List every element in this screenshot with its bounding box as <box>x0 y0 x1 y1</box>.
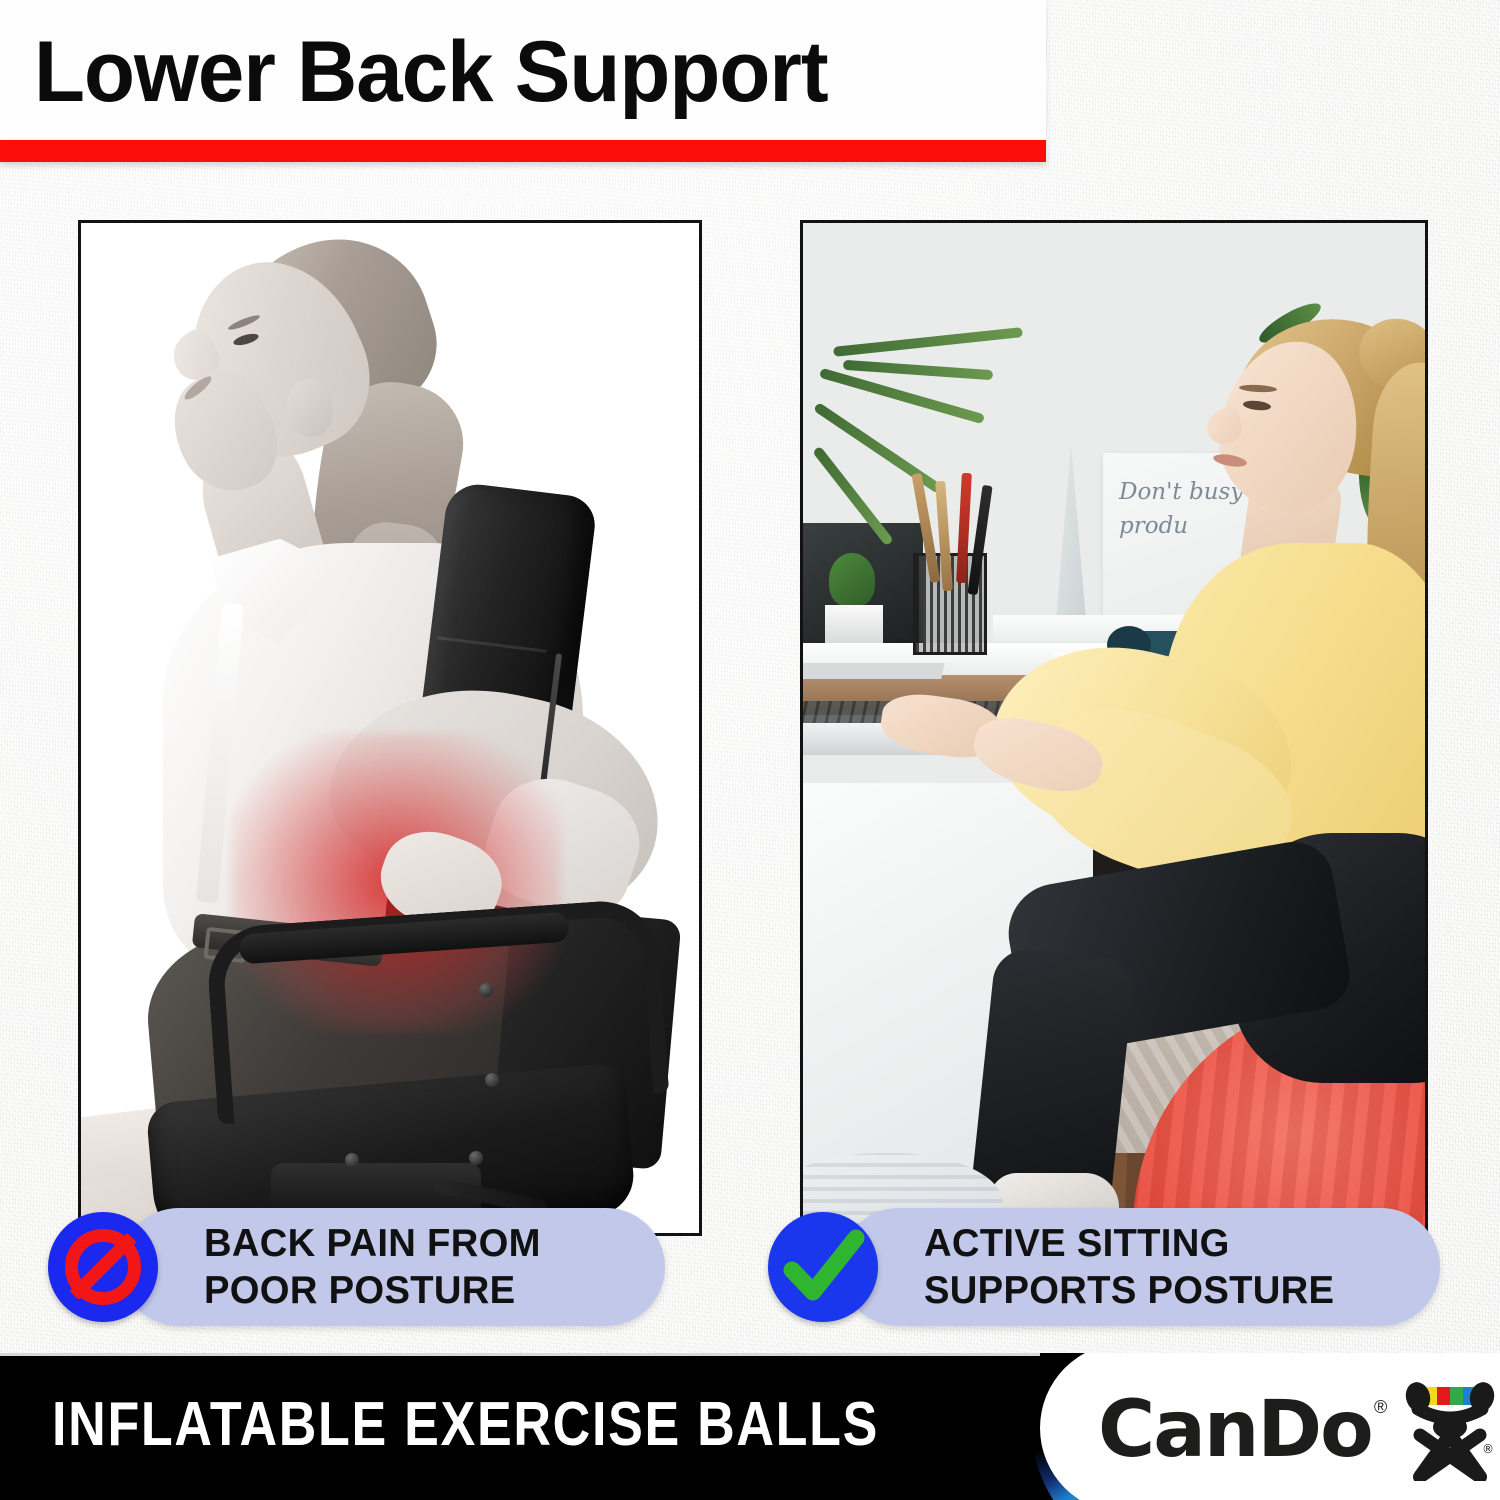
chair-screw <box>485 1073 499 1087</box>
footer-tagline: INFLATABLE EXERCISE BALLS <box>52 1389 879 1461</box>
footer-top-edge <box>0 1353 1040 1356</box>
chair-screw <box>469 1151 483 1165</box>
photo-active-sitting: Don't busy Be produ <box>803 223 1425 1233</box>
cando-figure-icon: ® <box>1404 1375 1496 1481</box>
footer-banner: INFLATABLE EXERCISE BALLS CanDo ® ® <box>0 1353 1500 1500</box>
svg-text:®: ® <box>1482 1442 1494 1456</box>
woman-shin-right <box>970 946 1135 1209</box>
brand-registered-mark: ® <box>1374 1397 1387 1418</box>
small-plant <box>815 553 895 643</box>
chair-screw <box>479 983 493 997</box>
photo-back-pain <box>81 223 699 1233</box>
comparison-panel-left <box>78 220 702 1236</box>
title-accent-rule <box>0 140 1046 162</box>
caption-pill-right: ACTIVE SITTING SUPPORTS POSTURE <box>840 1208 1440 1326</box>
prohibition-icon <box>48 1212 158 1322</box>
check-glyph <box>768 1212 878 1322</box>
caption-text-right: ACTIVE SITTING SUPPORTS POSTURE <box>924 1220 1334 1314</box>
brand-wordmark: CanDo <box>1098 1387 1372 1473</box>
infographic-page: Lower Back Support <box>0 0 1500 1500</box>
check-icon <box>768 1212 878 1322</box>
chair-screw <box>345 1153 359 1167</box>
page-title: Lower Back Support <box>34 24 828 120</box>
caption-text-left: BACK PAIN FROM POOR POSTURE <box>204 1220 541 1314</box>
comparison-panel-right: Don't busy Be produ <box>800 220 1428 1236</box>
caption-pill-left: BACK PAIN FROM POOR POSTURE <box>120 1208 665 1326</box>
laptop-hinge <box>803 663 945 679</box>
